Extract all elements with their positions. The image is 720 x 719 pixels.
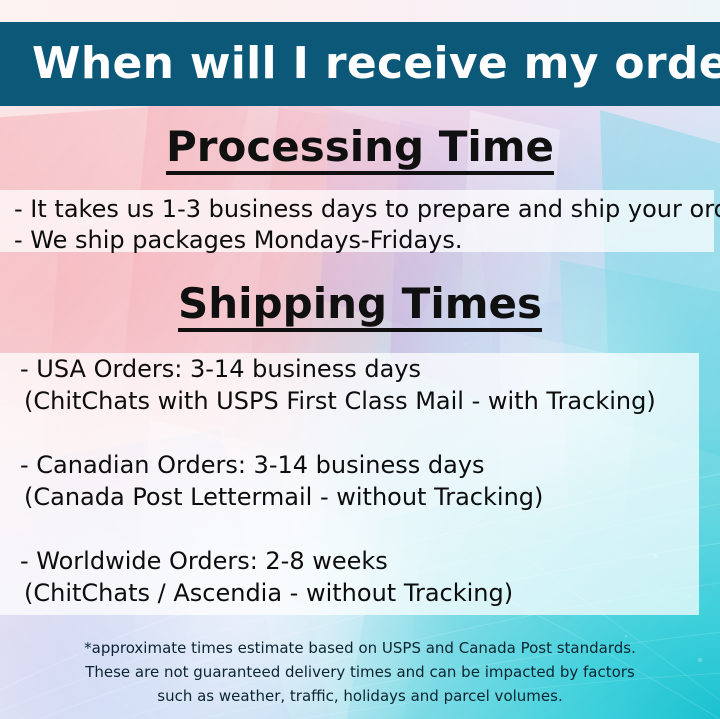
shipping-info-graphic: When will I receive my order? Processing… [0, 0, 720, 719]
top-strip [0, 0, 720, 22]
shipping-canada-line-2: (Canada Post Lettermail - without Tracki… [24, 485, 543, 509]
processing-line-1: - It takes us 1-3 business days to prepa… [14, 197, 720, 221]
processing-line-2: - We ship packages Mondays-Fridays. [14, 228, 463, 252]
page-title: When will I receive my order? [0, 42, 720, 86]
heading-shipping-times-label: Shipping Times [178, 283, 542, 332]
shipping-usa-line-1: - USA Orders: 3-14 business days [20, 357, 421, 381]
footnote-line-2: These are not guaranteed delivery times … [0, 665, 720, 680]
shipping-worldwide-line-1: - Worldwide Orders: 2-8 weeks [20, 549, 388, 573]
header-banner: When will I receive my order? [0, 22, 720, 106]
heading-processing-time: Processing Time [0, 126, 720, 175]
shipping-canada-line-1: - Canadian Orders: 3-14 business days [20, 453, 485, 477]
footnote-line-1: *approximate times estimate based on USP… [0, 641, 720, 656]
heading-shipping-times: Shipping Times [0, 283, 720, 332]
shipping-usa-line-2: (ChitChats with USPS First Class Mail - … [24, 389, 656, 413]
footnote-line-3: such as weather, traffic, holidays and p… [0, 689, 720, 704]
heading-processing-time-label: Processing Time [166, 126, 554, 175]
shipping-worldwide-line-2: (ChitChats / Ascendia - without Tracking… [24, 581, 513, 605]
